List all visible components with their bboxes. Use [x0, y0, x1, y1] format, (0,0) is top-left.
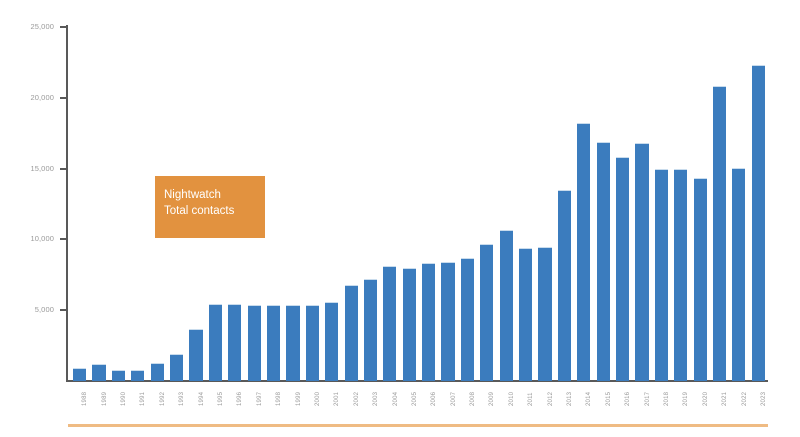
x-axis-tick-label: 2017 [645, 392, 651, 406]
annotation-line-2: Total contacts [164, 203, 265, 219]
bar [131, 370, 144, 381]
bar [383, 266, 396, 381]
x-axis-tick-label: 2001 [334, 392, 340, 406]
x-axis-tick-label: 2022 [742, 392, 748, 406]
bar [306, 305, 319, 381]
x-axis-tick-label: 1991 [140, 392, 146, 406]
bar [345, 285, 358, 381]
bar [92, 364, 105, 381]
x-axis-tick-label: 2002 [354, 392, 360, 406]
x-axis-tick-label: 2015 [606, 392, 612, 406]
bar [170, 354, 183, 381]
x-axis-tick-label: 2014 [586, 392, 592, 406]
bar [732, 168, 745, 381]
x-axis-tick-label: 1992 [160, 392, 166, 406]
bar [422, 263, 435, 381]
x-axis-tick-label: 2020 [703, 392, 709, 406]
x-axis-tick-label: 2011 [528, 392, 534, 406]
bar [713, 86, 726, 381]
x-axis-tick-label: 2018 [664, 392, 670, 406]
y-axis-tick [60, 26, 66, 28]
x-axis-tick-label: 2012 [548, 392, 554, 406]
y-axis-tick-label: 20,000 [8, 93, 54, 102]
bar [189, 329, 202, 381]
bar [403, 268, 416, 381]
bar [267, 305, 280, 381]
x-axis-tick-label: 1995 [218, 392, 224, 406]
bar [500, 230, 513, 382]
bar [519, 248, 532, 381]
y-axis-line [66, 25, 68, 382]
x-axis-tick-label: 1999 [296, 392, 302, 406]
bar [248, 305, 261, 381]
x-axis-tick-label: 2004 [393, 392, 399, 406]
bar [461, 258, 474, 381]
bar [73, 368, 86, 381]
y-axis-tick-label: 15,000 [8, 164, 54, 173]
y-axis-tick [60, 238, 66, 240]
bar [558, 190, 571, 381]
x-axis-tick-label: 1993 [179, 392, 185, 406]
bar [209, 304, 222, 381]
y-axis-tick-label: 25,000 [8, 22, 54, 31]
bar [597, 142, 610, 381]
bar [228, 304, 241, 381]
x-axis-tick-label: 1990 [121, 392, 127, 406]
x-axis-tick-label: 1997 [257, 392, 263, 406]
x-axis-tick-label: 2007 [451, 392, 457, 406]
x-axis-tick-label: 2006 [431, 392, 437, 406]
bar [325, 302, 338, 381]
x-axis-tick-label: 1989 [102, 392, 108, 406]
bar-chart: 5,00010,00015,00020,00025,000 1988198919… [0, 0, 800, 437]
annotation-line-1: Nightwatch [164, 187, 265, 203]
x-axis-tick-label: 2023 [761, 392, 767, 406]
x-axis-tick-label: 1994 [199, 392, 205, 406]
x-axis-tick-label: 2019 [683, 392, 689, 406]
bar [655, 169, 668, 381]
x-axis-tick-label: 1988 [82, 392, 88, 406]
x-axis-tick-label: 2009 [489, 392, 495, 406]
bar [538, 247, 551, 381]
bar [112, 370, 125, 381]
y-axis-tick-label: 10,000 [8, 234, 54, 243]
x-axis-labels: 1988198919901991199219931994199519961997… [70, 384, 768, 414]
bar [577, 123, 590, 381]
y-axis-tick [60, 168, 66, 170]
x-axis-tick-label: 2000 [315, 392, 321, 406]
x-axis-tick-label: 2013 [567, 392, 573, 406]
x-axis-tick-label: 2016 [625, 392, 631, 406]
x-axis-tick-label: 2003 [373, 392, 379, 406]
annotation-nightwatch: Nightwatch Total contacts [155, 176, 265, 238]
x-axis-tick-label: 1998 [276, 392, 282, 406]
y-axis-tick [60, 309, 66, 311]
x-axis-tick-label: 2008 [470, 392, 476, 406]
y-axis-tick [60, 97, 66, 99]
bar [151, 363, 164, 381]
bar [441, 262, 454, 381]
x-axis-tick-label: 2021 [722, 392, 728, 406]
bar [364, 279, 377, 381]
x-axis-tick-label: 2005 [412, 392, 418, 406]
bar [616, 157, 629, 381]
bar [635, 143, 648, 381]
bottom-rule [68, 424, 768, 427]
bar [752, 65, 765, 381]
bar [694, 178, 707, 381]
x-axis-tick-label: 1996 [237, 392, 243, 406]
y-axis-tick-label: 5,000 [8, 305, 54, 314]
x-axis-tick-label: 2010 [509, 392, 515, 406]
bar [480, 244, 493, 381]
bar [286, 305, 299, 381]
bar [674, 169, 687, 381]
